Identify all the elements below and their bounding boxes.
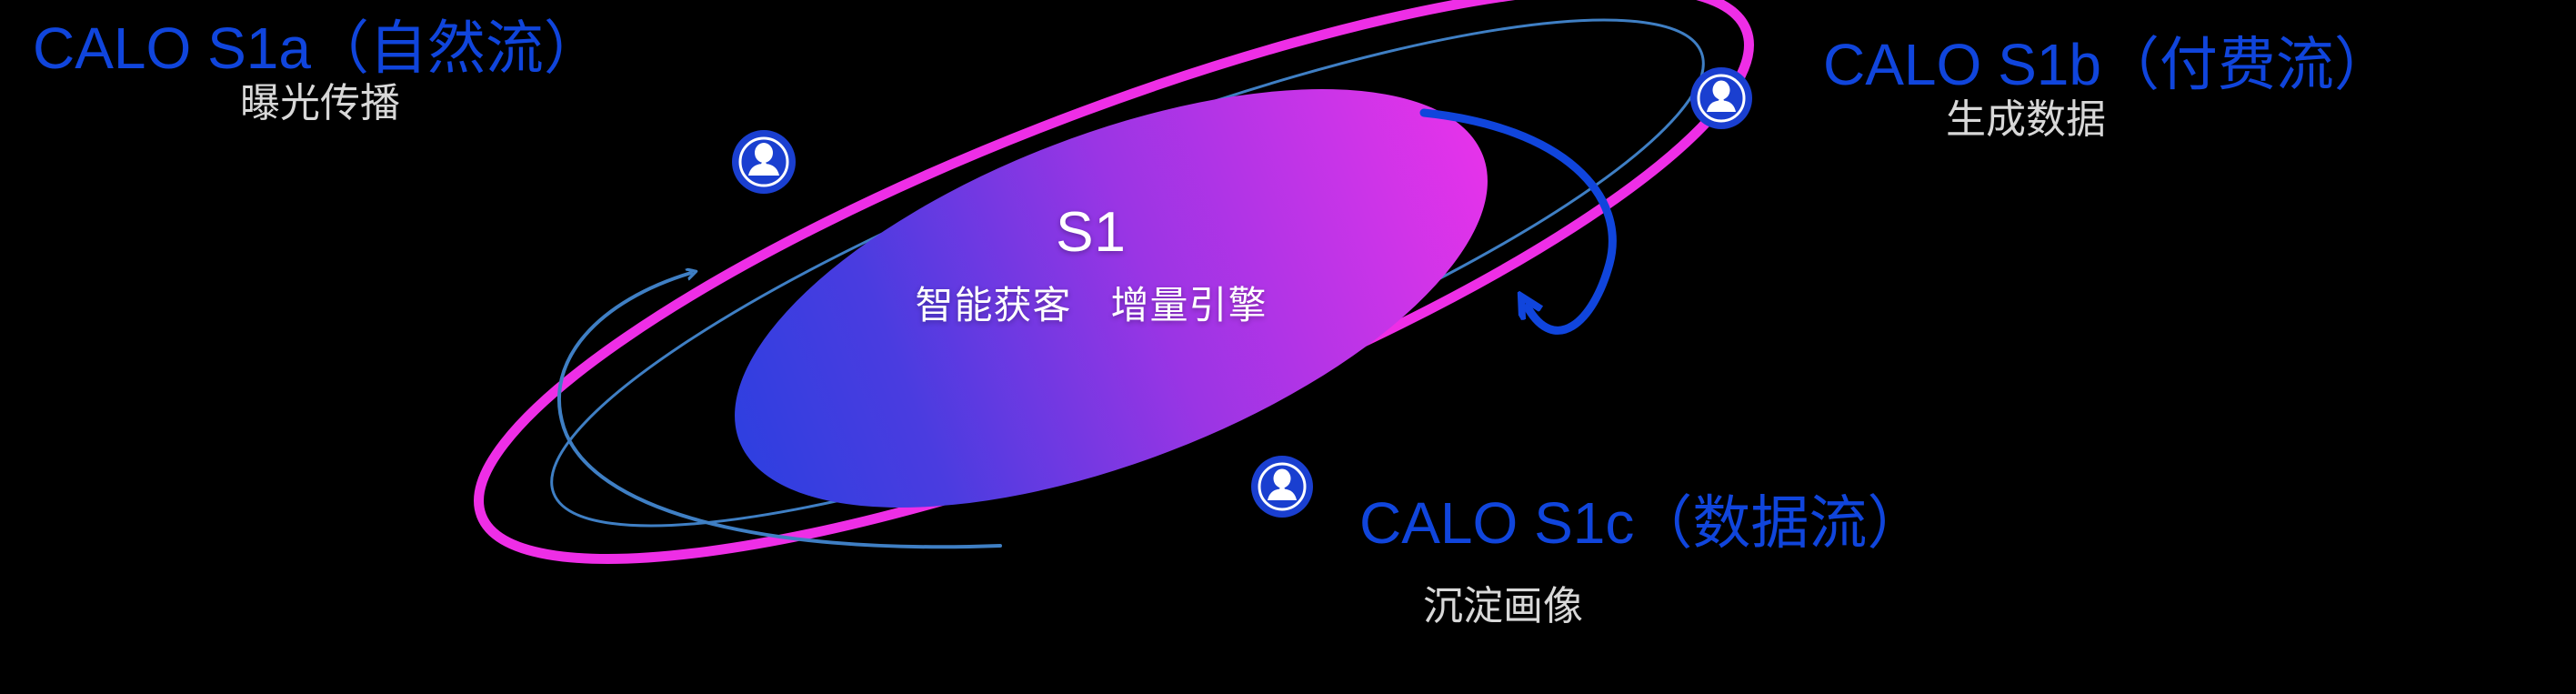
core-subtitle: 智能获客 增量引擎 — [818, 275, 1364, 330]
node-s1a-subtitle: 曝光传播 — [240, 82, 400, 126]
node-s1a-avatar[interactable] — [732, 130, 796, 194]
node-s1b-title: CALO S1b（付费流） — [1823, 33, 2392, 96]
node-s1c-avatar[interactable] — [1251, 456, 1313, 518]
node-s1a-title: CALO S1a（自然流） — [33, 16, 602, 80]
diagram-canvas: S1 智能获客 增量引擎 CALO S1a（自然流） 曝光传播 CALO S1b… — [0, 0, 2576, 694]
node-s1b-avatar[interactable] — [1690, 67, 1752, 129]
node-s1c-title: CALO S1c（数据流） — [1359, 491, 1925, 555]
core-title: S1 — [909, 200, 1273, 265]
node-s1b-subtitle: 生成数据 — [1946, 98, 2106, 142]
node-s1c-subtitle: 沉淀画像 — [1423, 585, 1583, 629]
